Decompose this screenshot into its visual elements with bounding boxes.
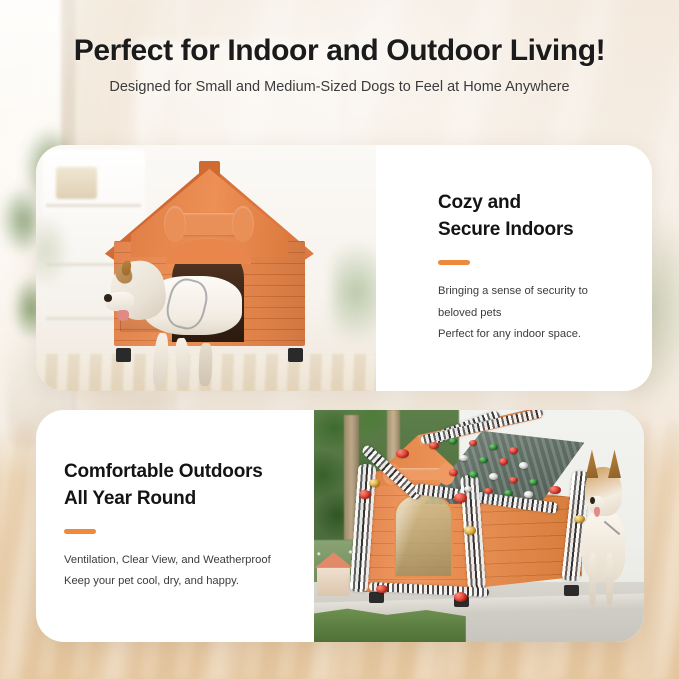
ornament-icon — [524, 491, 533, 497]
dog-leg — [606, 553, 613, 605]
dog-leg — [175, 337, 190, 386]
dog-house-foot — [288, 348, 303, 362]
card-body: Bringing a sense of security to beloved … — [438, 281, 622, 347]
card-body-line-1: Ventilation, Clear View, and Weatherproo… — [64, 554, 271, 566]
photo-indoor-jar — [56, 167, 97, 199]
ornament-icon — [489, 444, 498, 450]
dog-leg — [589, 553, 596, 605]
dog-tongue — [117, 310, 130, 322]
photo-indoor-plant — [36, 214, 70, 288]
ornament-icon — [499, 458, 508, 465]
accent-divider — [438, 260, 470, 265]
page-title: Perfect for Indoor and Outdoor Living! — [0, 34, 679, 67]
ornament-icon — [359, 490, 372, 499]
ornament-icon — [454, 592, 467, 602]
ornament-icon — [504, 490, 513, 496]
card-heading: Comfortable Outdoors All Year Round — [64, 459, 294, 513]
dog-tongue — [594, 507, 599, 517]
dog-nose — [104, 294, 113, 302]
card-heading-line-1: Comfortable Outdoors — [64, 461, 263, 482]
ornament-icon — [469, 471, 478, 478]
page-subtitle: Designed for Small and Medium-Sized Dogs… — [0, 79, 679, 96]
feature-card-cozy-secure-indoors: Cozy and Secure Indoors Bringing a sense… — [36, 145, 652, 391]
ornament-icon — [489, 473, 498, 480]
dog-nose — [590, 497, 595, 504]
photo-outdoor-mini-house — [317, 565, 350, 595]
card-heading-line-2: All Year Round — [64, 488, 196, 509]
card-text-column: Comfortable Outdoors All Year Round Vent… — [36, 410, 314, 642]
ornament-icon — [529, 479, 538, 486]
ornament-icon — [449, 469, 458, 476]
dog-house-door-window — [394, 493, 453, 578]
card-body-line-2: Keep your pet cool, dry, and happy. — [64, 575, 239, 587]
card-body-line-2: Perfect for any indoor space. — [438, 328, 581, 340]
ornament-icon — [429, 442, 439, 449]
dog-indoor — [111, 253, 254, 381]
ornament-icon — [376, 585, 388, 593]
ornament-icon — [509, 447, 518, 453]
dog-leg — [151, 332, 168, 387]
ornament-icon — [369, 479, 381, 487]
dog-house-outdoor — [354, 431, 605, 614]
product-photo-indoor — [36, 145, 376, 391]
dog-outdoor — [575, 461, 634, 605]
card-body: Ventilation, Clear View, and Weatherproo… — [64, 550, 294, 594]
ornament-icon — [484, 488, 493, 494]
feature-card-comfortable-outdoors: Comfortable Outdoors All Year Round Vent… — [36, 410, 644, 642]
ornament-icon — [479, 457, 488, 464]
dog-house-foot — [369, 592, 384, 603]
photo-indoor-chair — [332, 243, 376, 341]
card-body-line-1: Bringing a sense of security to beloved … — [438, 285, 588, 319]
accent-divider — [64, 529, 96, 534]
ornament-icon — [519, 462, 528, 469]
card-heading-line-2: Secure Indoors — [438, 219, 574, 240]
card-heading: Cozy and Secure Indoors — [438, 190, 622, 244]
card-heading-line-1: Cozy and — [438, 192, 521, 213]
ornament-icon — [549, 486, 561, 494]
ornament-icon — [449, 438, 458, 444]
bone-plaque-icon — [172, 213, 246, 235]
product-photo-outdoor — [314, 410, 644, 642]
dog-leg — [199, 343, 213, 387]
card-text-column: Cozy and Secure Indoors Bringing a sense… — [376, 145, 652, 391]
header: Perfect for Indoor and Outdoor Living! D… — [0, 34, 679, 96]
